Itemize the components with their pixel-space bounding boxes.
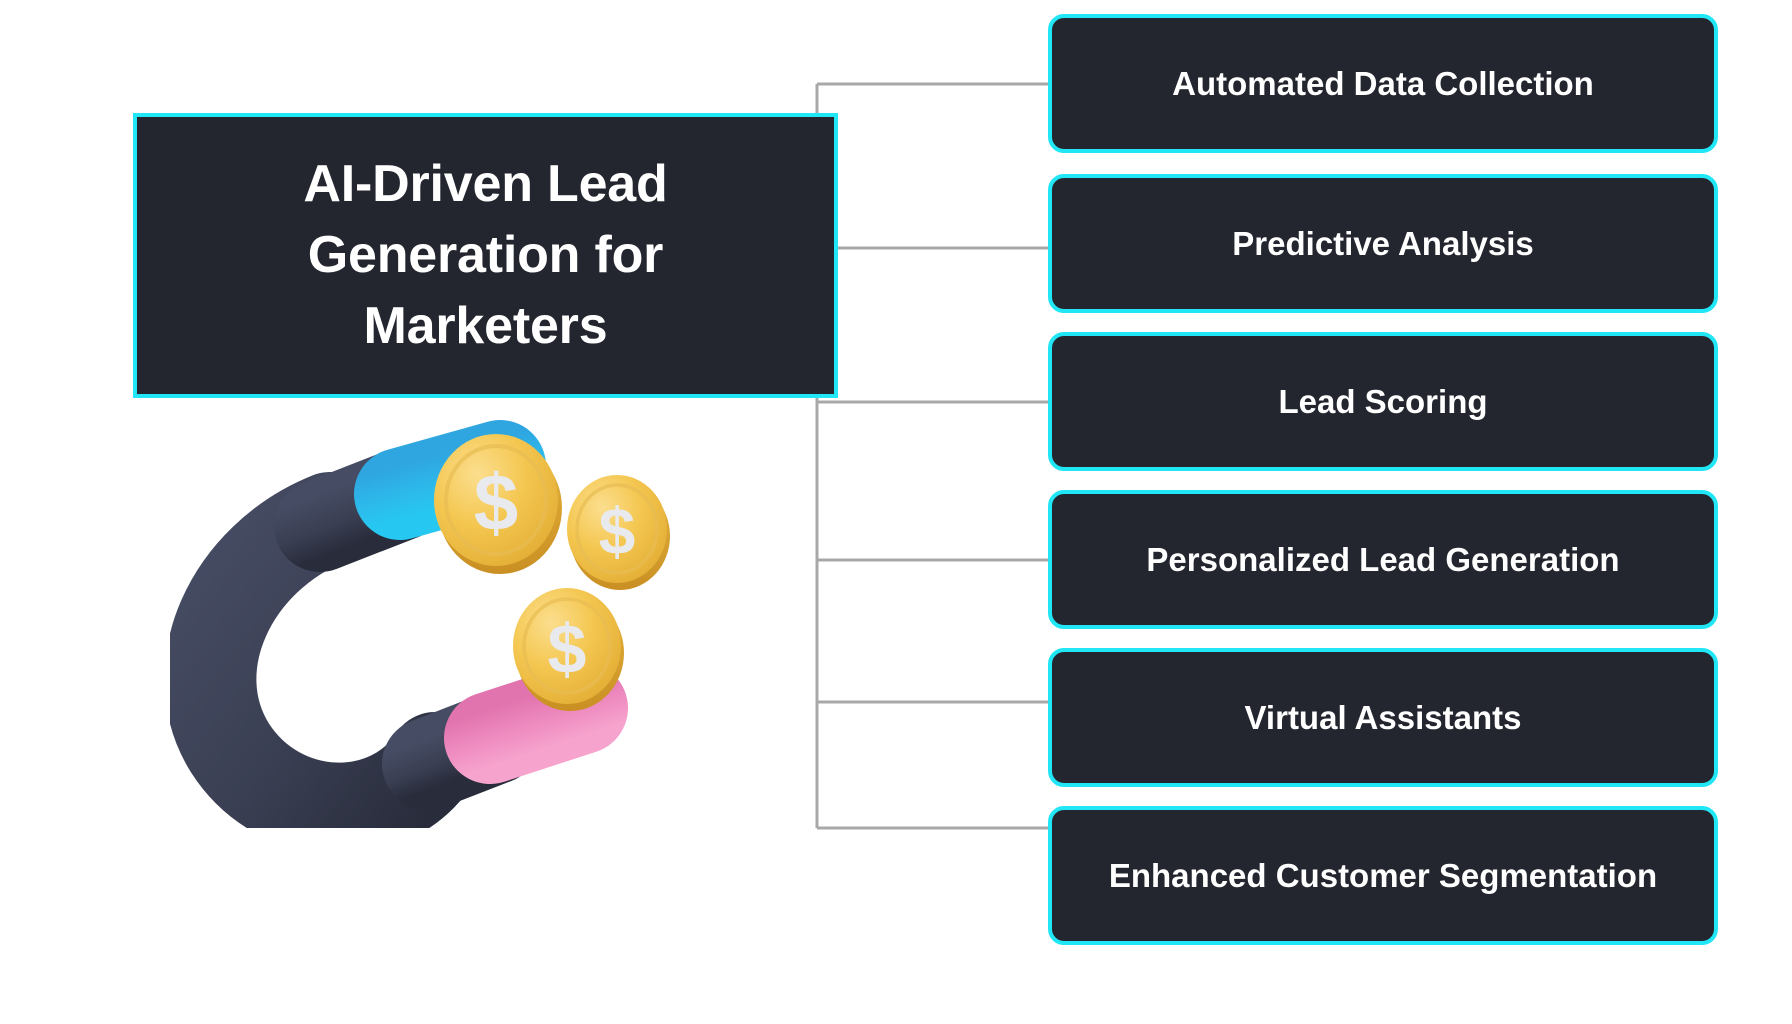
root-node[interactable]: AI-Driven Lead Generation for Marketers — [133, 113, 838, 398]
root-node-title: AI-Driven Lead Generation for Marketers — [303, 149, 667, 361]
branch-node-label: Automated Data Collection — [1172, 64, 1594, 104]
branch-node-label: Personalized Lead Generation — [1146, 540, 1619, 580]
branch-node-personalized-lead-generation[interactable]: Personalized Lead Generation — [1048, 490, 1718, 629]
magnet-with-coins-illustration: $ $ $ — [170, 408, 700, 828]
branch-node-label: Enhanced Customer Segmentation — [1109, 856, 1657, 896]
branch-node-predictive-analysis[interactable]: Predictive Analysis — [1048, 174, 1718, 313]
mindmap-canvas: AI-Driven Lead Generation for Marketers … — [0, 0, 1792, 1024]
branch-node-lead-scoring[interactable]: Lead Scoring — [1048, 332, 1718, 471]
root-title-line-1: AI-Driven Lead — [303, 149, 667, 220]
branch-node-virtual-assistants[interactable]: Virtual Assistants — [1048, 648, 1718, 787]
branch-node-enhanced-customer-segmentation[interactable]: Enhanced Customer Segmentation — [1048, 806, 1718, 945]
coin-dollar-symbol: $ — [474, 458, 519, 547]
root-title-line-3: Marketers — [303, 291, 667, 362]
coin-2: $ — [567, 475, 670, 590]
branch-node-label: Predictive Analysis — [1232, 224, 1533, 264]
branch-node-label: Virtual Assistants — [1245, 698, 1522, 738]
coin-dollar-symbol: $ — [599, 494, 636, 568]
root-title-line-2: Generation for — [303, 220, 667, 291]
branch-node-label: Lead Scoring — [1278, 382, 1487, 422]
branch-node-automated-data-collection[interactable]: Automated Data Collection — [1048, 14, 1718, 153]
magnet-tip-pink — [490, 708, 582, 738]
coin-dollar-symbol: $ — [548, 610, 587, 688]
